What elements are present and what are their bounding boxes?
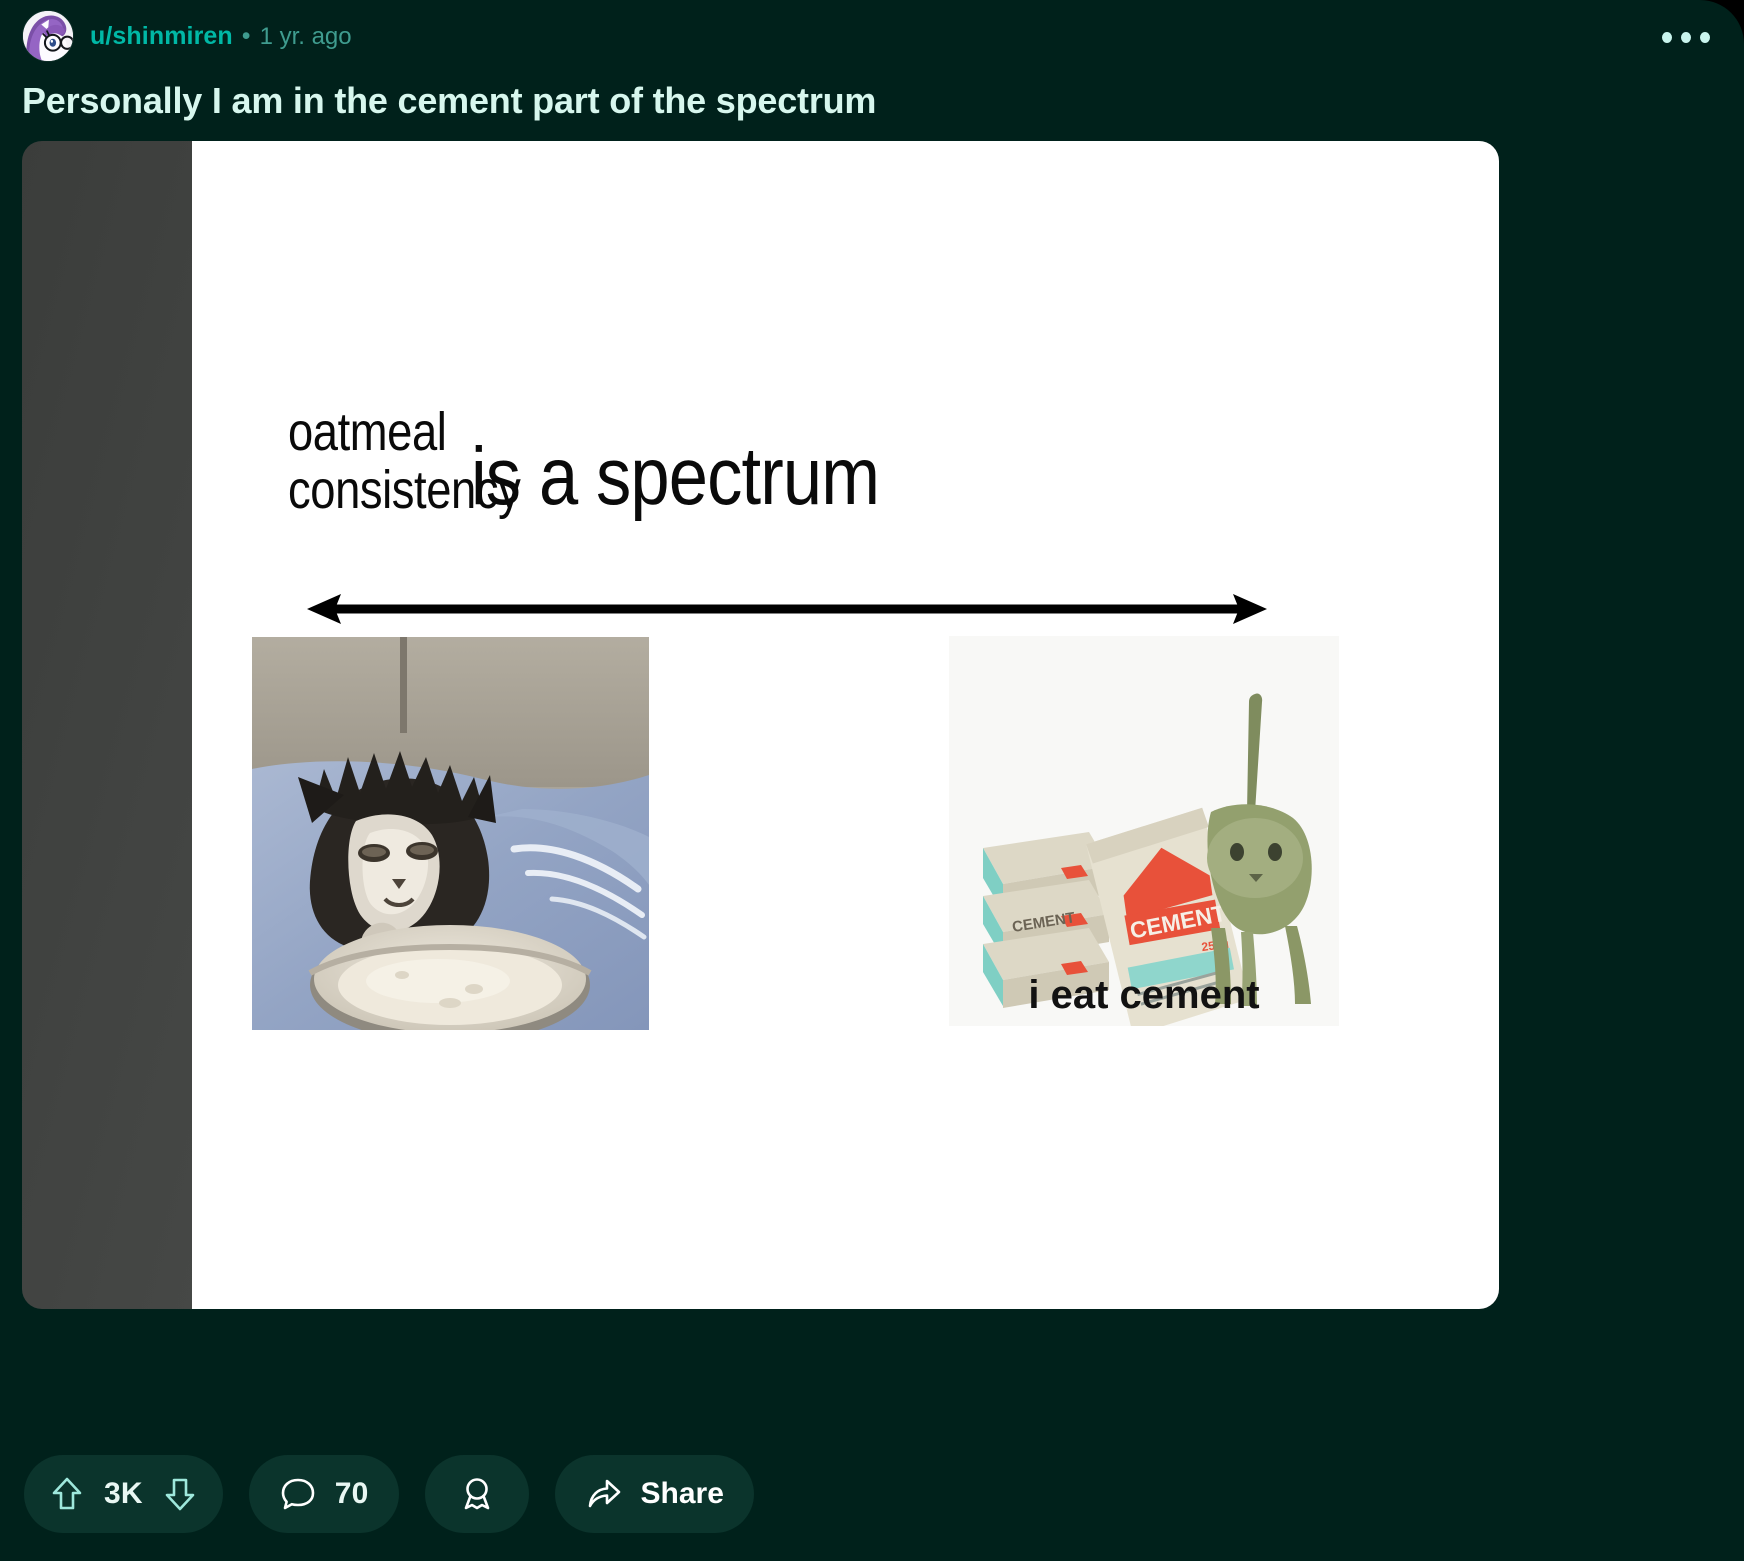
double-headed-arrow-icon (307, 589, 1267, 629)
share-label: Share (641, 1477, 724, 1511)
post-author[interactable]: u/shinmiren (90, 22, 233, 51)
cement-cat-photo-icon: CEMENT CEMENT (949, 636, 1339, 1026)
award-button[interactable] (425, 1455, 529, 1533)
left-photo (252, 637, 649, 1030)
post-timestamp: 1 yr. ago (260, 23, 352, 51)
spectrum-arrow (307, 589, 1267, 629)
cement-caption: i eat cement (1028, 973, 1259, 1017)
wet-kitten-photo-icon (252, 637, 649, 1030)
downvote-button[interactable] (163, 1475, 197, 1513)
meme-headline: oatmeal consistency is a spectrum (288, 403, 945, 520)
meme-canvas: oatmeal consistency is a spectrum (192, 141, 1499, 1309)
post-header: u/shinmiren • 1 yr. ago (0, 0, 1744, 72)
upvote-arrow-icon (50, 1475, 84, 1513)
vote-count: 3K (104, 1477, 143, 1511)
upvote-button[interactable] (50, 1475, 84, 1513)
byline: u/shinmiren • 1 yr. ago (90, 22, 352, 51)
ellipsis-icon (1700, 32, 1710, 43)
post-media[interactable]: oatmeal consistency is a spectrum (22, 141, 1499, 1309)
vote-pill: 3K (24, 1455, 223, 1533)
meme-spectrum-text: is a spectrum (471, 436, 879, 520)
avatar[interactable] (22, 10, 74, 62)
ellipsis-icon (1681, 32, 1691, 43)
overflow-menu-button[interactable] (1662, 18, 1710, 56)
pony-avatar-icon (23, 11, 73, 61)
byline-separator: • (242, 22, 251, 51)
comments-button[interactable]: 70 (249, 1455, 399, 1533)
reddit-post: u/shinmiren • 1 yr. ago Personally I am … (0, 0, 1744, 1561)
downvote-arrow-icon (163, 1475, 197, 1513)
comment-bubble-icon (279, 1475, 317, 1513)
right-photo: CEMENT CEMENT (949, 636, 1339, 1026)
award-medal-icon (459, 1475, 495, 1513)
ellipsis-icon (1662, 32, 1672, 43)
share-button[interactable]: Share (555, 1455, 754, 1533)
post-title[interactable]: Personally I am in the cement part of th… (22, 80, 1622, 122)
post-actions: 3K 70 Share (24, 1455, 754, 1533)
share-arrow-icon (585, 1475, 623, 1513)
comment-count: 70 (335, 1477, 369, 1511)
